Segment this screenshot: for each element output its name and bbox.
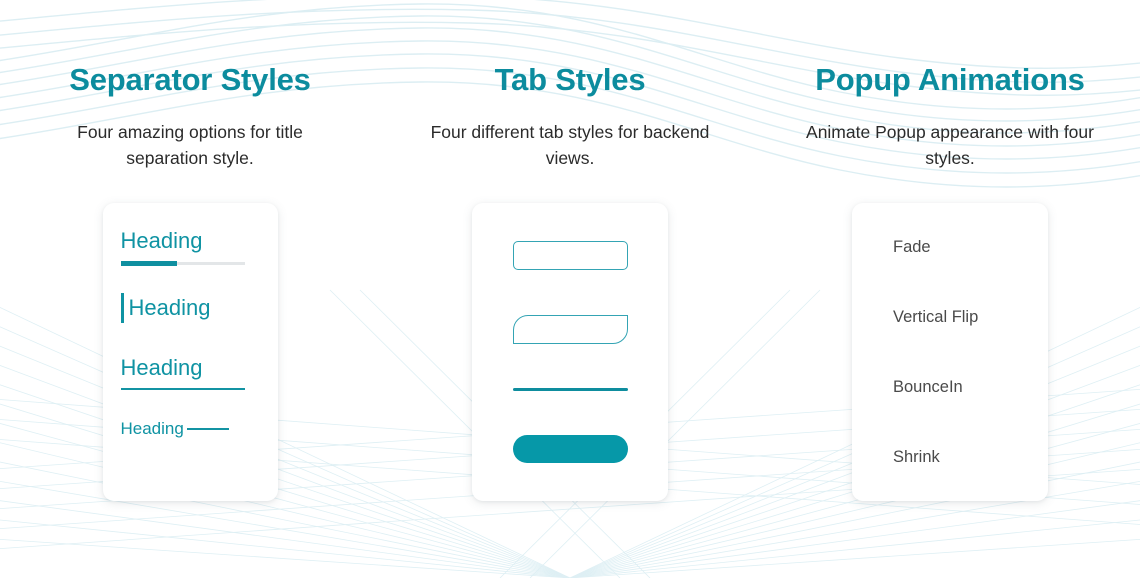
animation-option-bouncein[interactable]: BounceIn	[852, 379, 963, 396]
column-subtitle-tab-styles: Four different tab styles for backend vi…	[420, 120, 720, 172]
column-subtitle-popup-animations: Animate Popup appearance with four style…	[800, 120, 1100, 172]
separator-styles-card: Heading Heading Heading Heading	[103, 203, 278, 501]
tab-preview-diagonal-rounded[interactable]	[513, 315, 628, 344]
separator-heading-label: Heading	[129, 296, 211, 319]
tab-preview-underline-bar[interactable]	[513, 388, 628, 391]
column-title-tab-styles: Tab Styles	[495, 62, 646, 98]
popup-animations-card: Fade Vertical Flip BounceIn Shrink	[852, 203, 1048, 501]
separator-inline-row: Heading	[121, 420, 260, 438]
tab-styles-card	[472, 203, 668, 501]
column-separator-styles: Separator Styles Four amazing options fo…	[0, 62, 380, 578]
feature-columns: Separator Styles Four amazing options fo…	[0, 0, 1140, 578]
separator-rule-partial	[121, 262, 245, 265]
separator-vertical-bar	[121, 293, 124, 323]
separator-heading-label: Heading	[121, 229, 260, 252]
separator-rule-full	[121, 388, 245, 390]
column-subtitle-separator-styles: Four amazing options for title separatio…	[40, 120, 340, 172]
column-title-separator-styles: Separator Styles	[69, 62, 310, 98]
separator-preview-left-bar[interactable]: Heading	[121, 293, 260, 357]
separator-preview-full-underline[interactable]: Heading	[121, 356, 260, 420]
separator-preview-inline-line[interactable]: Heading	[121, 420, 260, 484]
column-popup-animations: Popup Animations Animate Popup appearanc…	[760, 62, 1140, 578]
separator-preview-partial-underline[interactable]: Heading	[121, 229, 260, 293]
animation-option-shrink[interactable]: Shrink	[852, 449, 940, 466]
tab-preview-outlined-rect[interactable]	[513, 241, 628, 270]
animation-option-fade[interactable]: Fade	[852, 239, 931, 256]
separator-trailing-line	[187, 428, 229, 430]
tab-preview-filled-pill[interactable]	[513, 435, 628, 463]
column-title-popup-animations: Popup Animations	[815, 62, 1084, 98]
separator-heading-label: Heading	[121, 420, 184, 438]
animation-option-vertical-flip[interactable]: Vertical Flip	[852, 309, 978, 326]
separator-heading-label: Heading	[121, 356, 260, 379]
separator-left-bar-row: Heading	[121, 293, 260, 323]
column-tab-styles: Tab Styles Four different tab styles for…	[380, 62, 760, 578]
